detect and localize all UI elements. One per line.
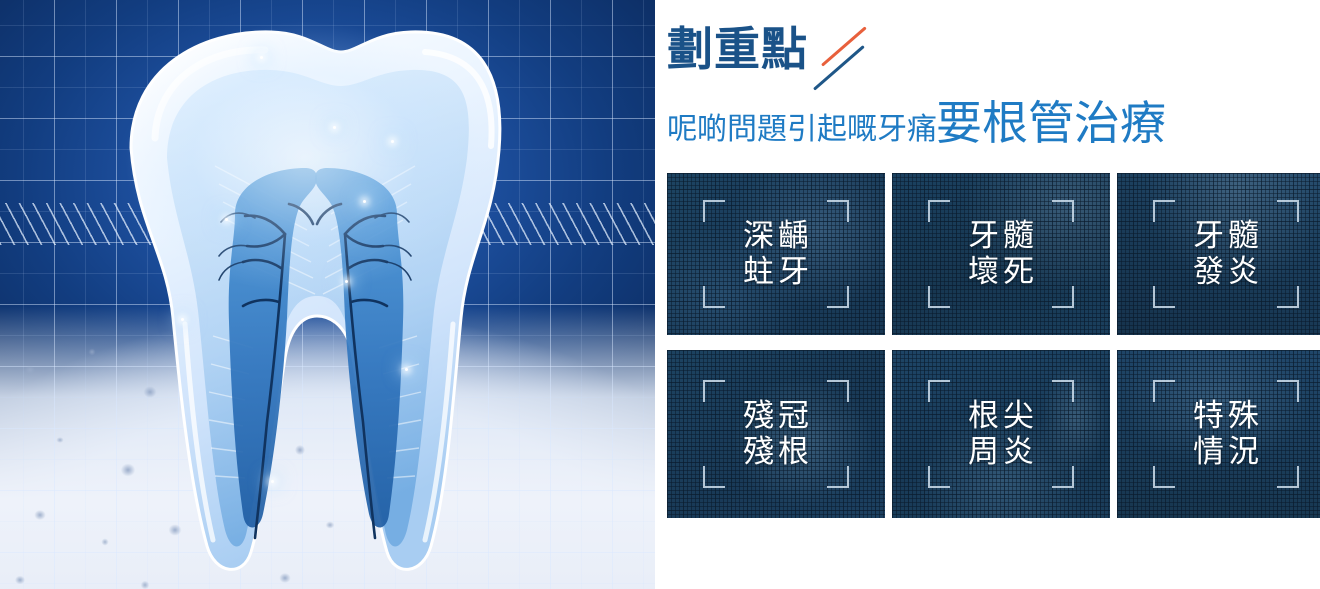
subtitle-emphasis: 要根管治療 bbox=[936, 100, 1166, 146]
sparkle-1 bbox=[260, 56, 263, 59]
card-label: 根尖 周炎 bbox=[964, 398, 1038, 471]
card-label-line2: 殘根 bbox=[739, 434, 813, 470]
card-residual-crown-root[interactable]: 殘冠 殘根 bbox=[667, 350, 885, 518]
card-label-line2: 發炎 bbox=[1189, 254, 1263, 290]
slash-decoration bbox=[814, 26, 886, 92]
card-label: 深齲 蛀牙 bbox=[739, 218, 813, 291]
card-label-line1: 殘冠 bbox=[743, 398, 813, 433]
card-label-line2: 壞死 bbox=[964, 254, 1038, 290]
card-label: 殘冠 殘根 bbox=[739, 398, 813, 471]
card-label-line2: 情況 bbox=[1189, 434, 1263, 470]
card-label: 特殊 情況 bbox=[1189, 398, 1263, 471]
tooth-illustration bbox=[0, 0, 655, 589]
card-label: 牙髓 發炎 bbox=[1189, 218, 1263, 291]
infographic-page: 劃重點 呢啲問題引起嘅牙痛 要根管治療 bbox=[0, 0, 1320, 589]
sparkle-3 bbox=[391, 140, 394, 143]
card-label-line2: 蛀牙 bbox=[739, 254, 813, 290]
card-deep-caries[interactable]: 深齲 蛀牙 bbox=[667, 173, 885, 335]
card-label: 牙髓 壞死 bbox=[964, 218, 1038, 291]
card-label-line1: 根尖 bbox=[968, 398, 1038, 433]
condition-card-grid: 深齲 蛀牙 牙髓 壞死 bbox=[667, 173, 1320, 518]
card-label-line1: 牙髓 bbox=[1193, 218, 1263, 253]
headline-row: 劃重點 bbox=[667, 26, 1320, 104]
sparkle-6 bbox=[345, 280, 348, 283]
card-pulp-inflammation[interactable]: 牙髓 發炎 bbox=[1117, 173, 1320, 335]
sparkle-8 bbox=[271, 480, 274, 483]
card-label-line1: 特殊 bbox=[1193, 398, 1263, 433]
card-label-line1: 深齲 bbox=[743, 218, 813, 253]
sparkle-4 bbox=[363, 200, 366, 203]
card-label-line2: 周炎 bbox=[964, 434, 1038, 470]
tooth-graphic bbox=[95, 18, 515, 578]
subtitle-lead: 呢啲問題引起嘅牙痛 bbox=[667, 115, 937, 145]
content-panel: 劃重點 呢啲問題引起嘅牙痛 要根管治療 bbox=[655, 0, 1320, 589]
sparkle-5 bbox=[225, 218, 228, 221]
sparkle-9 bbox=[405, 368, 408, 371]
subtitle-row: 呢啲問題引起嘅牙痛 要根管治療 bbox=[667, 100, 1320, 146]
card-pulp-necrosis[interactable]: 牙髓 壞死 bbox=[892, 173, 1110, 335]
tooth-glow bbox=[55, 0, 555, 418]
sparkle-2 bbox=[333, 126, 336, 129]
card-label-line1: 牙髓 bbox=[968, 218, 1038, 253]
card-apical-periodontitis[interactable]: 根尖 周炎 bbox=[892, 350, 1110, 518]
sparkle-7 bbox=[181, 318, 184, 321]
page-title: 劃重點 bbox=[667, 26, 808, 72]
card-special-cases[interactable]: 特殊 情況 bbox=[1117, 350, 1320, 518]
